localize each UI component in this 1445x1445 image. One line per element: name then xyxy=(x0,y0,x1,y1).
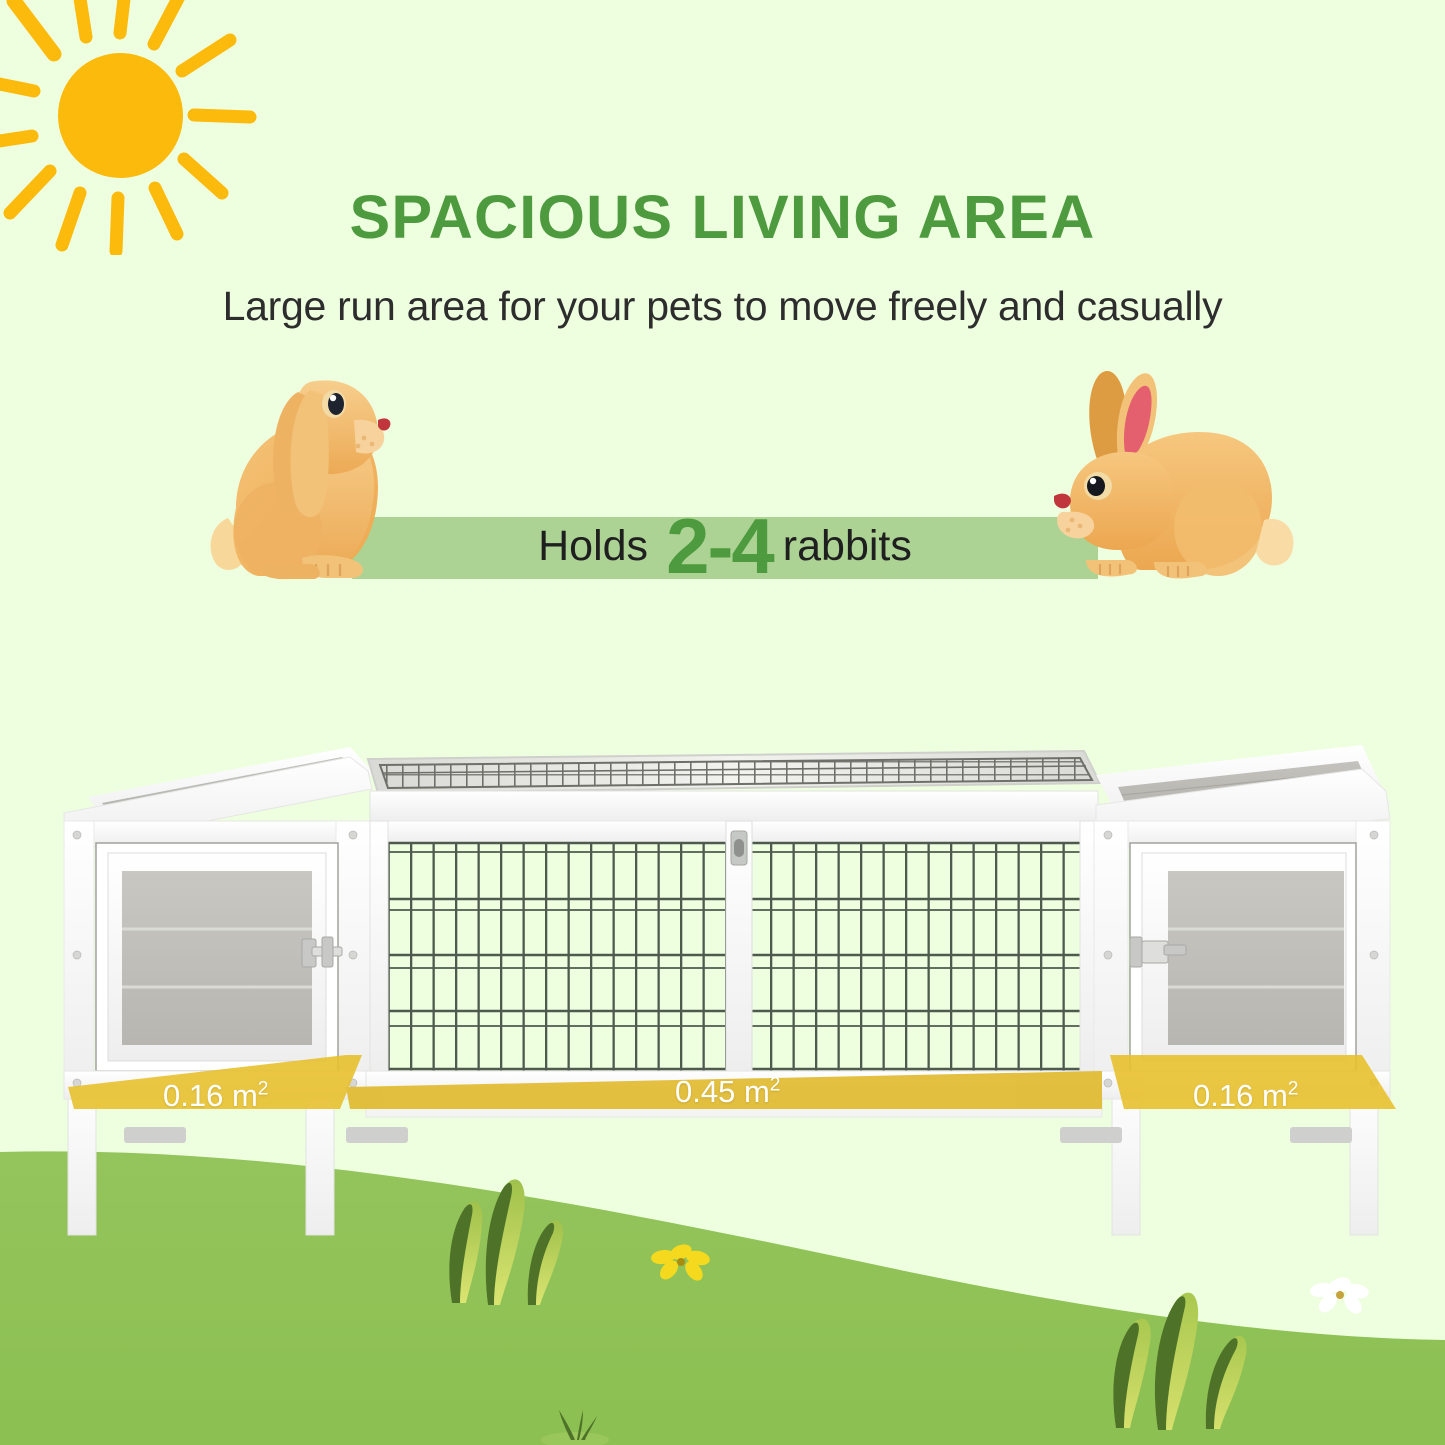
marketing-image-canvas: SPACIOUS LIVING AREA Large run area for … xyxy=(0,0,1445,1445)
hutch-right-house xyxy=(1094,745,1390,1099)
area-label-left-house: 0.16 m2 xyxy=(163,1078,268,1114)
page-title: SPACIOUS LIVING AREA xyxy=(0,182,1445,252)
grass-sprig-icon xyxy=(535,1404,615,1445)
run-door-latch xyxy=(731,831,747,865)
capacity-suffix: rabbits xyxy=(783,522,912,571)
area-label-right-house: 0.16 m2 xyxy=(1193,1078,1298,1114)
flower-white-icon xyxy=(1308,1270,1372,1320)
area-label-center-run: 0.45 m2 xyxy=(675,1074,780,1110)
capacity-banner: Holds 2-4 rabbits xyxy=(352,500,1098,592)
rabbit-sitting-icon xyxy=(206,358,436,598)
flower-yellow-icon xyxy=(648,1236,714,1286)
hutch-center-run xyxy=(366,751,1102,1117)
capacity-prefix: Holds xyxy=(538,522,648,571)
rabbit-hutch-product xyxy=(50,735,1400,1245)
capacity-count: 2-4 xyxy=(666,501,773,592)
grass-tuft-icon xyxy=(430,1175,600,1305)
rabbit-crouching-icon xyxy=(1046,362,1296,594)
hutch-left-house xyxy=(64,747,376,1099)
page-subtitle: Large run area for your pets to move fre… xyxy=(0,283,1445,330)
grass-tuft-icon xyxy=(1098,1285,1283,1430)
